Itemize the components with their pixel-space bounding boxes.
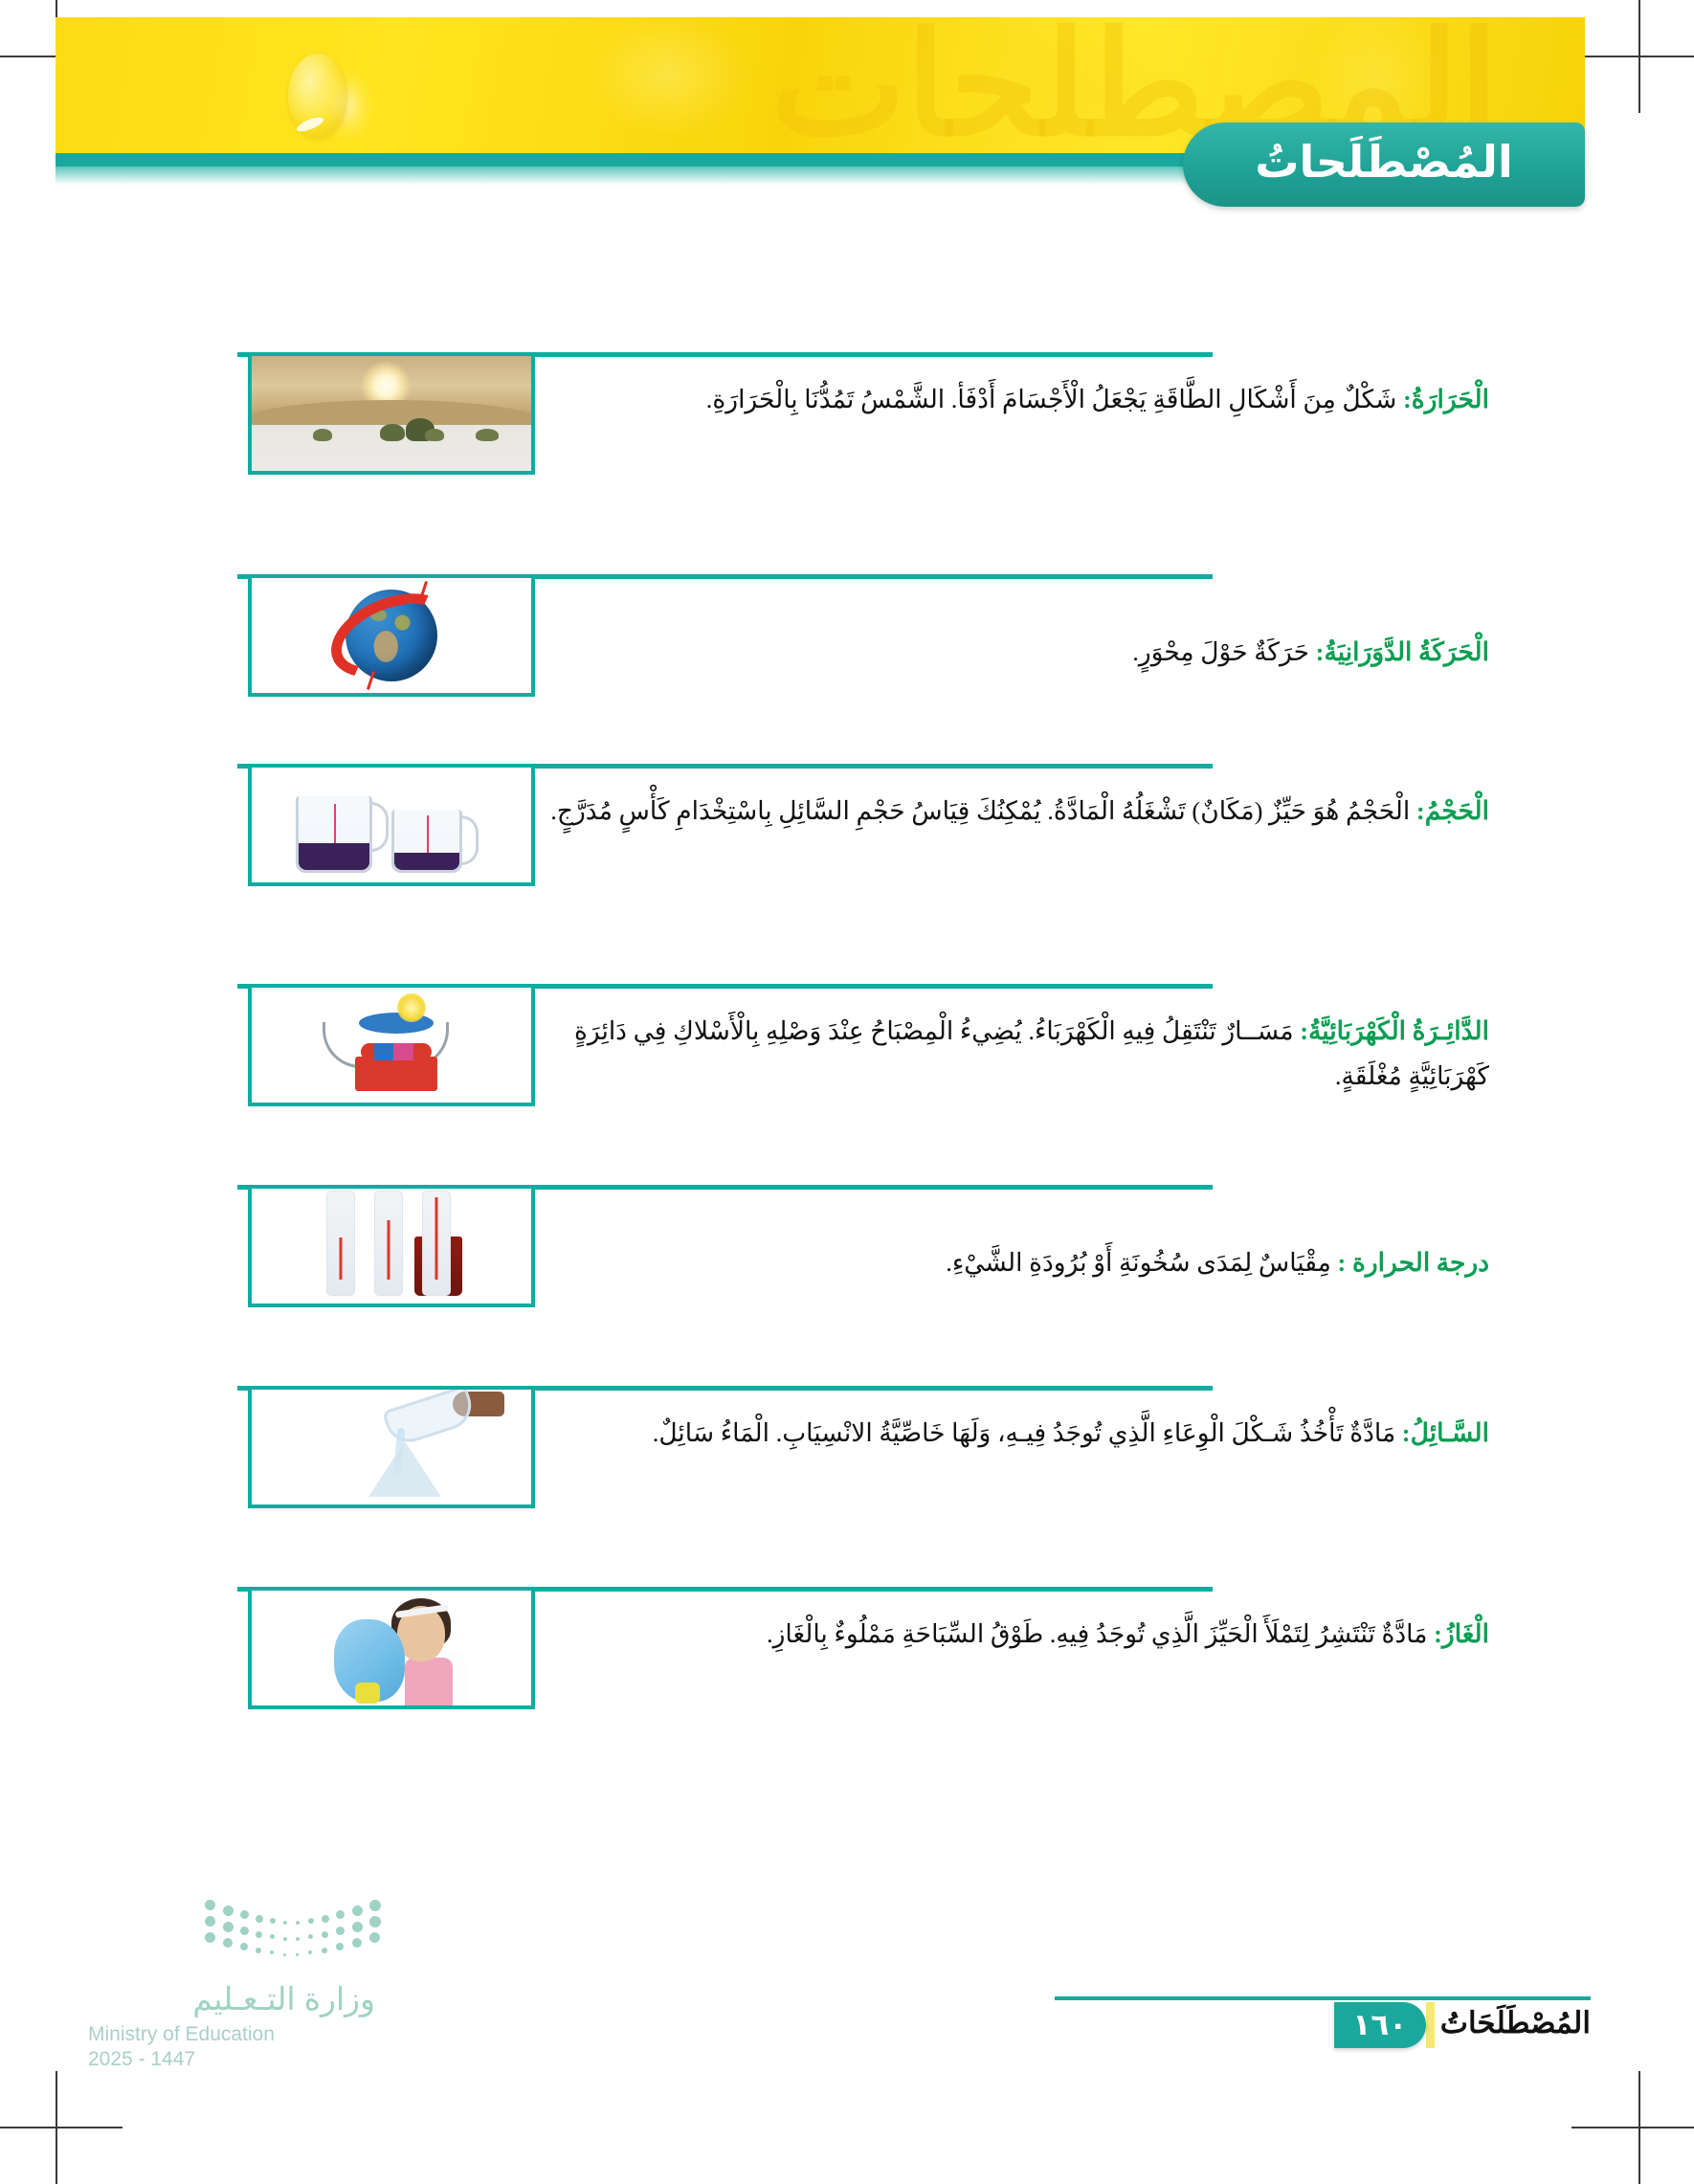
girl-inflating-swim-ring-photo: [248, 1587, 535, 1709]
moe-logo-dot: [205, 1900, 215, 1910]
moe-logo-dot: [223, 1905, 234, 1916]
footer-yellow-strip: [1426, 2002, 1435, 2048]
glossary-text-cell: الْحَرَكَةُ الدَّوَرَانِيَةُ: حَرَكَةٌ ح…: [535, 574, 1510, 764]
flask-icon: [368, 1441, 441, 1497]
page-title: المُصْطَلَحاتُ: [1255, 140, 1512, 189]
footer-rule: [1055, 1996, 1591, 2000]
glossary-row: الْغَازُ: مَادَّةٌ تَنْتَشِرُ لِتَمْلَأَ…: [237, 1587, 1510, 1788]
mercury-column: [340, 1237, 343, 1280]
glossary-row: الْحَرَكَةُ الدَّوَرَانِيَةُ: حَرَكَةٌ ح…: [237, 574, 1510, 764]
glossary-row: السَّـائِلُ: مَادَّةٌ تَأْخُذُ شَـكْلَ ا…: [237, 1386, 1510, 1587]
glossary-definition: حَرَكَةٌ حَوْلَ مِحْوَرٍ.: [1132, 637, 1309, 666]
glossary-text-cell: الدَّائِـرَةُ الْكَهْرَبَائِيَّةُ: مَسَـ…: [535, 984, 1510, 1185]
crop-mark-right-top-horizontal: [1571, 56, 1694, 57]
liquid-fill: [394, 853, 459, 870]
moe-logo-dot: [369, 1932, 380, 1943]
glossary-text-cell: درجة الحرارة : مِقْيَاسٌ لِمَدَى سُخُونَ…: [535, 1185, 1510, 1386]
glossary-text-cell: الْغَازُ: مَادَّةٌ تَنْتَشِرُ لِتَمْلَأَ…: [535, 1587, 1510, 1788]
moe-logo-dot: [256, 1915, 263, 1923]
textbook-page: المصطلحات المُصْطَلَحاتُ الْحَرَارَةُ: ش…: [0, 0, 1694, 2184]
moe-logo-dot: [308, 1918, 314, 1924]
moe-logo-dot: [352, 1922, 363, 1932]
glossary-text-cell: الْحَجْمُ: الْحَجْمُ هُوَ حَيِّزٌ (مَكَا…: [535, 764, 1510, 984]
mercury-column: [435, 1197, 438, 1280]
glossary-image-cell: [237, 1587, 535, 1788]
desert-sunset-photo: [248, 352, 535, 475]
moe-logo-dot: [369, 1916, 381, 1928]
glossary-image-cell: [237, 352, 535, 574]
moe-logo-dot: [296, 1937, 300, 1941]
term-separator: :: [1427, 1619, 1441, 1648]
moe-logo-dot: [308, 1934, 313, 1939]
desert-bush-shape: [425, 429, 444, 441]
mercury-column: [388, 1220, 390, 1280]
moe-logo-dot: [336, 1943, 344, 1950]
desert-bush-shape: [380, 424, 405, 441]
moe-logo-dot: [240, 1910, 249, 1919]
footer-section-label: المُصْطَلَحَاتُ: [1440, 2006, 1591, 2044]
moe-logo-dot: [256, 1948, 261, 1953]
crop-mark-left-bottom-horizontal: [0, 2127, 123, 2128]
moe-dot-pattern-icon: [205, 1900, 375, 1967]
ministry-name-arabic: وزارة التـعـليم: [88, 1980, 375, 2017]
glossary-row: الْحَرَارَةُ: شَكْلٌ مِنَ أَشْكَالِ الطَ…: [237, 352, 1510, 574]
glossary-row: درجة الحرارة : مِقْيَاسٌ لِمَدَى سُخُونَ…: [237, 1185, 1510, 1386]
moe-logo-dot: [205, 1932, 215, 1943]
cup-scale-markings: [427, 815, 429, 858]
moe-logo-dot: [296, 1921, 300, 1925]
glossary-image-cell: [237, 1386, 535, 1587]
ministry-of-education-logo: وزارة التـعـليم Ministry of Education 20…: [88, 1900, 375, 2071]
cup-handle: [369, 802, 389, 852]
glossary-image-cell: [237, 1185, 535, 1386]
moe-logo-dot: [336, 1910, 345, 1919]
moe-logo-dot: [270, 1934, 275, 1939]
term-separator: :: [1396, 385, 1411, 413]
water-droplet-icon: [288, 54, 347, 138]
cup-handle: [459, 815, 479, 865]
moe-logo-dot: [240, 1943, 248, 1950]
glossary-term: الْحَرَارَةُ: [1412, 385, 1489, 413]
moe-logo-dot: [369, 1900, 381, 1911]
glossary-definition: الْحَجْمُ هُوَ حَيِّزٌ (مَكَانٌ) تَشْغَل…: [550, 796, 1410, 825]
term-separator: :: [1395, 1418, 1410, 1447]
glossary-text-cell: الْحَرَارَةُ: شَكْلٌ مِنَ أَشْكَالِ الطَ…: [535, 352, 1510, 574]
glossary-term: الدَّائِـرَةُ الْكَهْرَبَائِيَّةُ: [1308, 1016, 1489, 1045]
moe-logo-dot: [322, 1948, 327, 1953]
thermometer-icon: [422, 1191, 451, 1296]
page-title-pill: المُصْطَلَحاتُ: [1183, 123, 1585, 207]
glossary-term: درجة الحرارة: [1352, 1248, 1489, 1277]
desert-bush-shape: [476, 429, 499, 441]
term-separator: :: [1410, 796, 1424, 825]
glossary-term: الْحَرَكَةُ الدَّوَرَانِيَةُ: [1325, 637, 1490, 666]
glossary-row: الدَّائِـرَةُ الْكَهْرَبَائِيَّةُ: مَسَـ…: [237, 984, 1510, 1185]
thermometer-icon: [374, 1191, 403, 1296]
moe-logo-dot: [205, 1916, 215, 1927]
moe-logo-dot: [296, 1953, 299, 1956]
moe-logo-dot: [322, 1915, 329, 1923]
moe-logo-dot: [270, 1950, 274, 1954]
moe-logo-dot: [223, 1922, 234, 1932]
glossary-definition: مَادَّةٌ تَأْخُذُ شَـكْلَ الْوِعَاءِ الَ…: [653, 1418, 1395, 1447]
glossary-image-cell: [237, 574, 535, 764]
glossary-definition: مِقْيَاسٌ لِمَدَى سُخُونَةِ أَوْ بُرُودَ…: [946, 1248, 1331, 1277]
moe-logo-dot: [322, 1931, 328, 1938]
liquid-fill: [299, 843, 369, 870]
crop-mark-right-bottom-horizontal: [1571, 2127, 1694, 2128]
moe-logo-dot: [283, 1953, 286, 1956]
glossary-definition: شَكْلٌ مِنَ أَشْكَالِ الطَّاقَةِ يَجْعَل…: [706, 385, 1397, 413]
glossary-term: الْحَجْمُ: [1425, 796, 1489, 825]
moe-logo-dot: [352, 1938, 362, 1948]
glossary-image-cell: [237, 984, 535, 1185]
thermometers-photo: [248, 1185, 535, 1307]
moe-logo-dot: [270, 1918, 276, 1924]
light-bulb-icon: [397, 993, 426, 1022]
moe-logo-dot: [256, 1931, 262, 1938]
page-footer: المُصْطَلَحَاتُ ١٦٠: [1334, 2002, 1591, 2048]
rotating-earth-globe-illustration: [248, 574, 535, 697]
pouring-water-photo: [248, 1386, 535, 1508]
measuring-cups-photo: [248, 764, 535, 886]
moe-logo-dot: [308, 1950, 312, 1954]
term-separator: :: [1294, 1016, 1308, 1045]
moe-logo-dot: [336, 1927, 345, 1935]
glossary-row: الْحَجْمُ: الْحَجْمُ هُوَ حَيِّزٌ (مَكَا…: [237, 764, 1510, 984]
moe-logo-dot: [352, 1905, 363, 1916]
glossary-term: السَّـائِلُ: [1411, 1418, 1489, 1447]
battery-icon: [355, 1057, 437, 1091]
glossary-table: الْحَرَارَةُ: شَكْلٌ مِنَ أَشْكَالِ الطَ…: [237, 352, 1510, 1788]
moe-logo-dot: [283, 1937, 287, 1941]
sand-dune-shape: [248, 400, 535, 425]
thermometer-icon: [326, 1191, 355, 1296]
glossary-definition: مَادَّةٌ تَنْتَشِرُ لِتَمْلَأَ الْحَيِّز…: [767, 1619, 1427, 1648]
term-separator: :: [1309, 637, 1324, 666]
ministry-years: 2025 - 1447: [88, 2048, 375, 2071]
glossary-text-cell: السَّـائِلُ: مَادَّةٌ تَأْخُذُ شَـكْلَ ا…: [535, 1386, 1510, 1587]
glossary-image-cell: [237, 764, 535, 984]
electric-circuit-illustration: [248, 984, 535, 1106]
moe-logo-dot: [283, 1921, 287, 1925]
term-separator: :: [1331, 1248, 1352, 1277]
measuring-cup-icon: [296, 796, 372, 873]
ministry-name-english: Ministry of Education: [88, 2023, 375, 2046]
measuring-cup-icon: [391, 810, 462, 873]
desert-bush-shape: [313, 429, 332, 441]
moe-logo-dot: [240, 1927, 249, 1935]
glossary-term: الْغَازُ: [1442, 1619, 1489, 1648]
girl-vest-shape: [405, 1658, 453, 1705]
page-number: ١٦٠: [1334, 2002, 1426, 2048]
moe-logo-dot: [223, 1938, 233, 1948]
swim-ring-icon: [334, 1619, 405, 1702]
